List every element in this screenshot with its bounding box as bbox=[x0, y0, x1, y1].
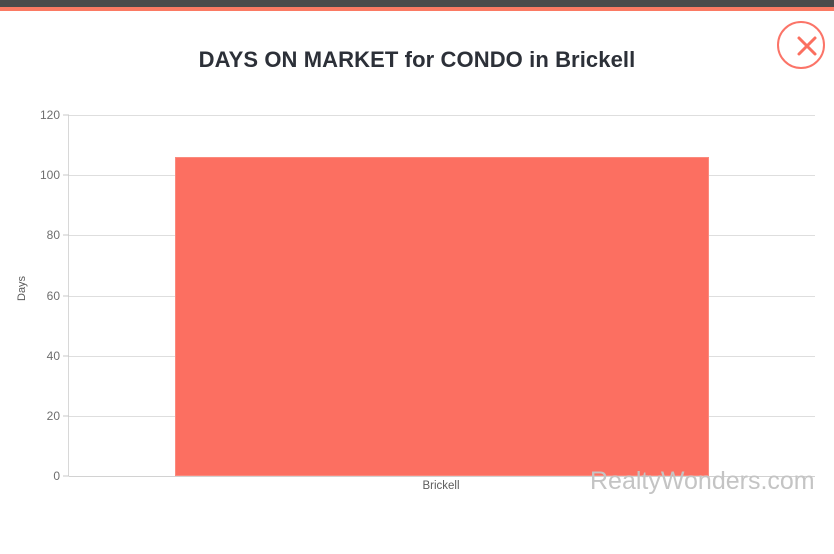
y-tick-mark bbox=[63, 115, 69, 116]
y-tick-mark bbox=[63, 175, 69, 176]
x-tick-label: Brickell bbox=[422, 480, 459, 492]
y-tick-label: 20 bbox=[47, 409, 60, 423]
chart-modal: DAYS ON MARKET for CONDO in Brickell Day… bbox=[0, 11, 834, 554]
y-tick-mark bbox=[63, 415, 69, 416]
chart-plot: 020406080100120 bbox=[68, 115, 815, 476]
y-tick-mark bbox=[63, 476, 69, 477]
y-tick-mark bbox=[63, 235, 69, 236]
bar-brickell[interactable] bbox=[175, 157, 708, 476]
site-topbar bbox=[0, 0, 834, 7]
y-tick-label: 0 bbox=[53, 469, 60, 483]
plot-area: 020406080100120 bbox=[68, 115, 815, 476]
gridline bbox=[69, 115, 815, 116]
y-tick-mark bbox=[63, 295, 69, 296]
gridline bbox=[69, 476, 815, 477]
y-tick-label: 120 bbox=[40, 108, 60, 122]
y-tick-label: 40 bbox=[47, 349, 60, 363]
y-axis-title: Days bbox=[16, 276, 28, 301]
y-tick-label: 60 bbox=[47, 289, 60, 303]
chart-title: DAYS ON MARKET for CONDO in Brickell bbox=[0, 47, 834, 73]
y-tick-mark bbox=[63, 355, 69, 356]
y-tick-label: 80 bbox=[47, 228, 60, 242]
y-tick-label: 100 bbox=[40, 168, 60, 182]
page-root: Miami Real Estate Statistics DAYS ON MAR… bbox=[0, 0, 834, 554]
